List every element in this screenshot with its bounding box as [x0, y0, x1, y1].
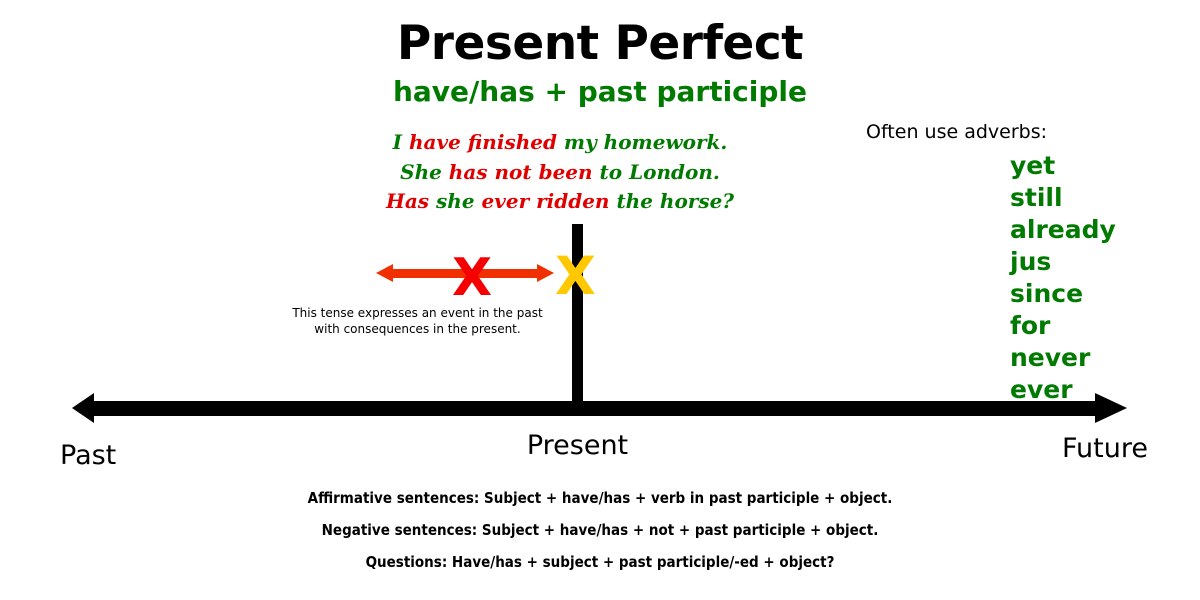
sentence-segment-green: the horse? — [616, 189, 734, 213]
timeline-label-present: Present — [0, 430, 1155, 462]
past-span-right-arrowhead-icon — [537, 264, 554, 282]
past-span-left-arrowhead-icon — [376, 264, 393, 282]
span-caption-line: with consequences in the present. — [265, 322, 570, 338]
adverb-item: already — [1010, 214, 1116, 246]
adverb-item: since — [1010, 278, 1116, 310]
sentence-segment-green: to London. — [600, 160, 720, 184]
sentence-segment-red: Has — [386, 189, 436, 213]
sentence-structure-rules: Affirmative sentences: Subject + have/ha… — [0, 482, 1200, 578]
adverb-item: jus — [1010, 246, 1116, 278]
adverbs-heading: Often use adverbs: — [866, 121, 1047, 143]
adverb-item: still — [1010, 182, 1116, 214]
sentence-segment-green: I — [393, 130, 409, 154]
page-title: Present Perfect — [0, 18, 1200, 70]
structure-rule: Negative sentences: Subject + have/has +… — [0, 514, 1200, 546]
adverb-item: never — [1010, 342, 1116, 374]
span-caption: This tense expresses an event in the pas… — [265, 306, 570, 337]
present-perfect-infographic: Present Perfect have/has + past particip… — [0, 0, 1200, 600]
structure-rule: Questions: Have/has + subject + past par… — [0, 546, 1200, 578]
example-sentence: Has she ever ridden the horse? — [330, 187, 790, 217]
timeline-left-arrowhead-icon — [72, 393, 94, 423]
sentence-segment-green: she — [436, 189, 482, 213]
formula-subtitle: have/has + past participle — [0, 76, 1200, 108]
example-sentence: She has not been to London. — [330, 158, 790, 188]
adverbs-list: yetstillalreadyjussinceforneverever — [1010, 150, 1116, 406]
adverb-item: yet — [1010, 150, 1116, 182]
structure-rule: Affirmative sentences: Subject + have/ha… — [0, 482, 1200, 514]
sentence-segment-red: have finished — [409, 130, 564, 154]
past-event-x-marker-icon: X — [452, 252, 492, 304]
sentence-segment-red: has not been — [449, 160, 600, 184]
present-consequence-x-marker-icon: X — [555, 250, 596, 303]
example-sentences: I have finished my homework.She has not … — [330, 128, 790, 217]
sentence-segment-green: She — [400, 160, 449, 184]
sentence-segment-green: my homework. — [564, 130, 727, 154]
example-sentence: I have finished my homework. — [330, 128, 790, 158]
sentence-segment-red: ever ridden — [482, 189, 617, 213]
timeline-label-future: Future — [1062, 433, 1148, 465]
adverb-item: for — [1010, 310, 1116, 342]
span-caption-line: This tense expresses an event in the pas… — [265, 306, 570, 322]
timeline-axis-shaft — [88, 401, 1096, 416]
timeline-right-arrowhead-icon — [1095, 393, 1127, 423]
